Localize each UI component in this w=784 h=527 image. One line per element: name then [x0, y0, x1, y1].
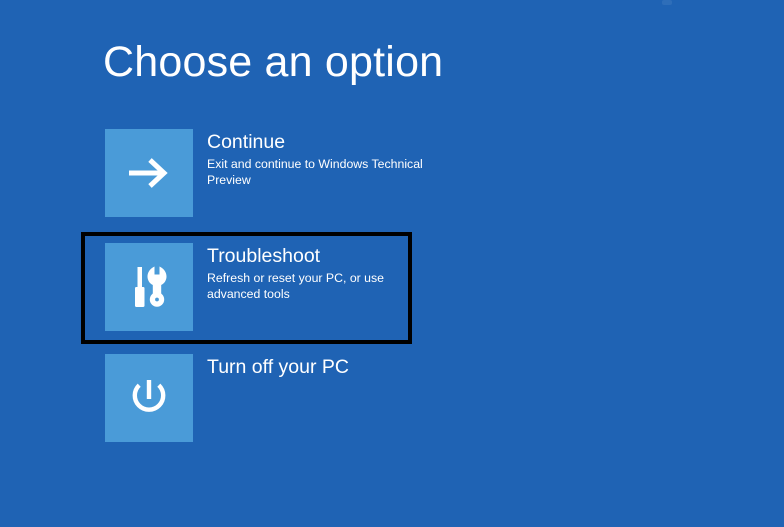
option-continue-title: Continue — [207, 130, 431, 154]
arrow-right-icon — [123, 147, 175, 199]
option-turn-off-pc[interactable]: Turn off your PC — [105, 354, 435, 442]
option-troubleshoot-description: Refresh or reset your PC, or use advance… — [207, 271, 431, 302]
option-continue-tile[interactable] — [105, 129, 193, 217]
option-continue-description: Exit and continue to Windows Technical P… — [207, 157, 431, 188]
option-troubleshoot-tile[interactable] — [105, 243, 193, 331]
screwdriver-wrench-icon — [123, 261, 175, 313]
option-turn-off-pc-tile[interactable] — [105, 354, 193, 442]
options-list: Continue Exit and continue to Windows Te… — [0, 0, 784, 527]
option-troubleshoot-text: Troubleshoot Refresh or reset your PC, o… — [193, 243, 431, 302]
option-turn-off-pc-text: Turn off your PC — [193, 354, 431, 379]
choose-an-option-screen: Choose an option Continue Exit and conti… — [0, 0, 784, 527]
option-turn-off-pc-title: Turn off your PC — [207, 355, 431, 379]
option-troubleshoot[interactable]: Troubleshoot Refresh or reset your PC, o… — [105, 243, 435, 331]
option-troubleshoot-title: Troubleshoot — [207, 244, 431, 268]
option-continue-text: Continue Exit and continue to Windows Te… — [193, 129, 431, 188]
option-continue[interactable]: Continue Exit and continue to Windows Te… — [105, 129, 435, 217]
power-icon — [123, 372, 175, 424]
